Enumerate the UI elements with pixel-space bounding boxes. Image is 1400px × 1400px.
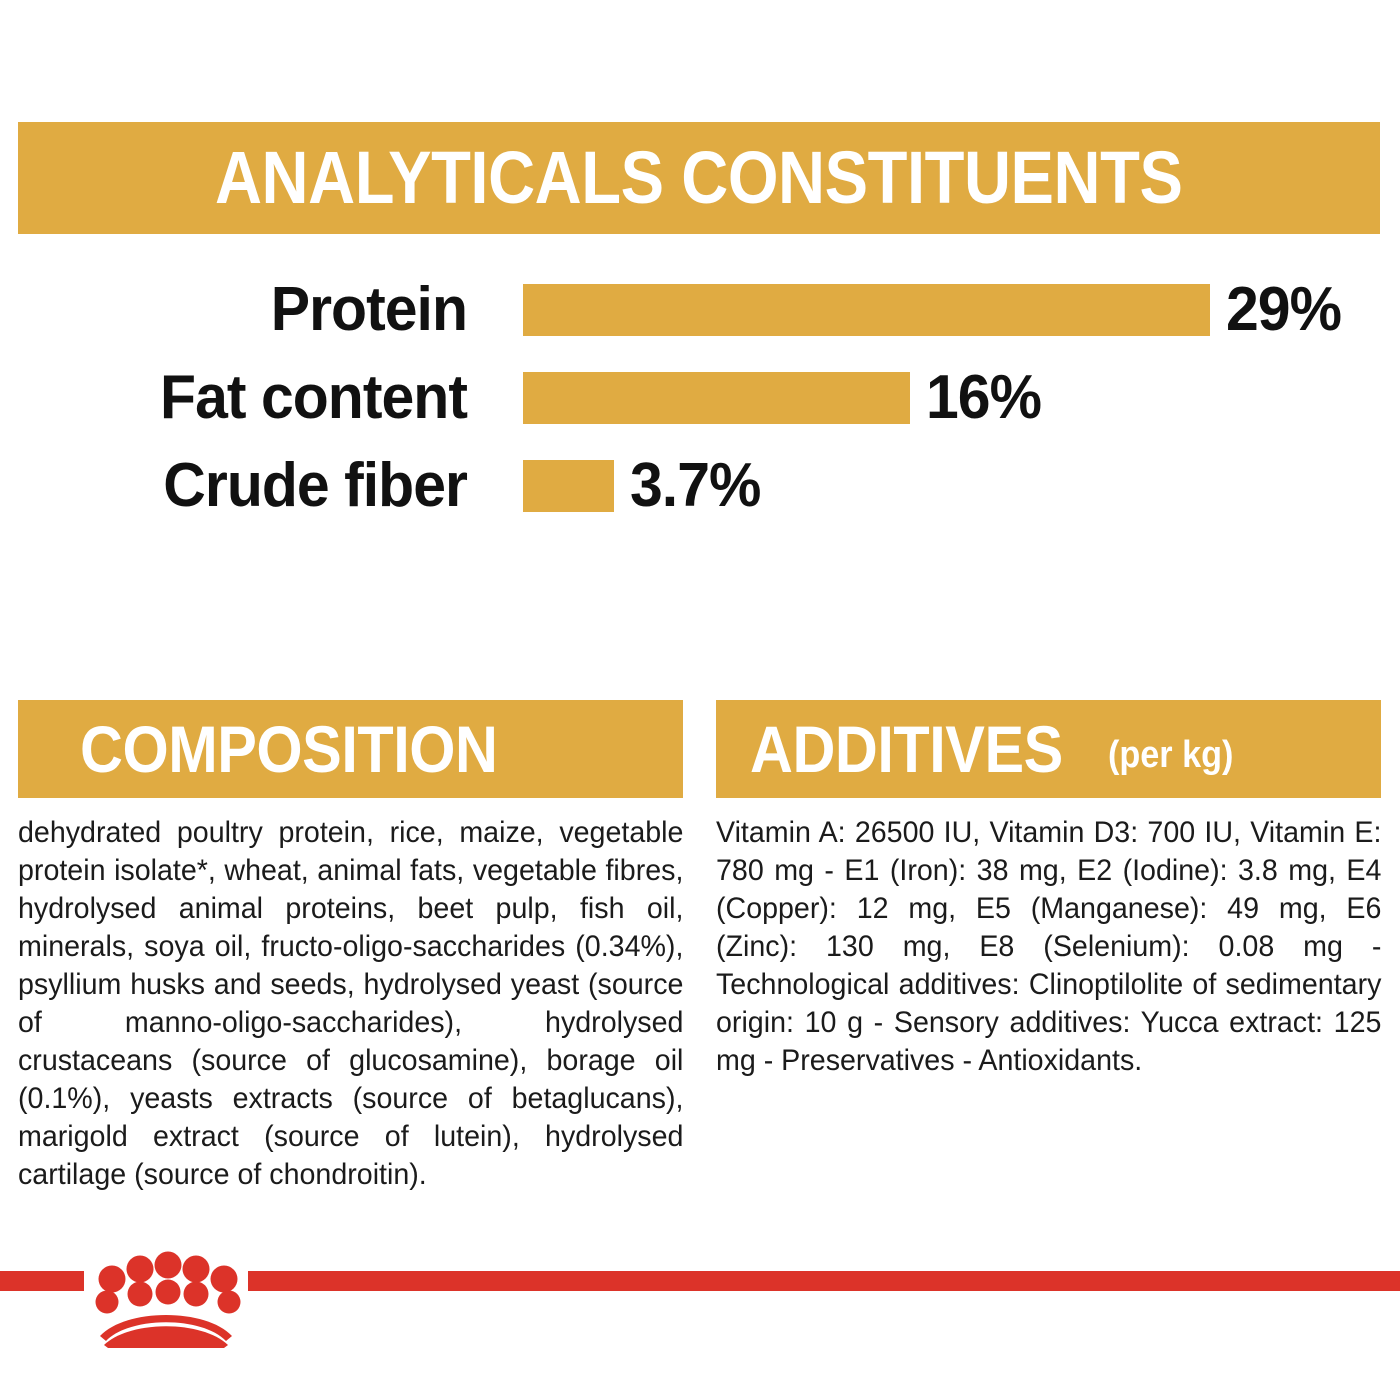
footer-rule-left: [0, 1271, 84, 1291]
bar-group-crude-fiber: 3.7%: [523, 455, 767, 517]
page-title: ANALYTICALS CONSTITUENTS: [215, 141, 1182, 215]
bar-crude-fiber: [523, 460, 614, 512]
bar-group-protein: 29%: [523, 279, 1347, 341]
additives-unit-label: (per kg): [1108, 736, 1233, 774]
chart-row: Fat content 16%: [0, 360, 1400, 436]
analytical-constituents-banner: ANALYTICALS CONSTITUENTS: [18, 122, 1380, 234]
additives-banner: ADDITIVES (per kg): [716, 700, 1381, 798]
additives-column: ADDITIVES (per kg) Vitamin A: 26500 IU, …: [716, 700, 1381, 1194]
bar-label-fat-content: Fat content: [23, 367, 467, 429]
bar-label-crude-fiber: Crude fiber: [23, 455, 467, 517]
footer-rule-right: [248, 1271, 1400, 1291]
bar-value-protein: 29%: [1226, 279, 1341, 341]
bar-value-crude-fiber: 3.7%: [630, 455, 760, 517]
bar-protein: [523, 284, 1210, 336]
bar-fat-content: [523, 372, 910, 424]
bar-value-fat-content: 16%: [926, 367, 1041, 429]
composition-banner: COMPOSITION: [18, 700, 683, 798]
composition-body: dehydrated poultry protein, rice, maize,…: [18, 814, 683, 1194]
nutrition-info-page: ANALYTICALS CONSTITUENTS Protein 29% Fat…: [0, 0, 1400, 1400]
additives-title: ADDITIVES: [750, 716, 1063, 782]
royal-canin-crown-logo: [84, 1248, 248, 1348]
bar-label-protein: Protein: [23, 279, 467, 341]
chart-row: Protein 29%: [0, 272, 1400, 348]
footer: [0, 1270, 1400, 1400]
additives-body: Vitamin A: 26500 IU, Vitamin D3: 700 IU,…: [716, 814, 1381, 1080]
analytical-constituents-chart: Protein 29% Fat content 16% Crude fiber …: [0, 272, 1400, 524]
composition-column: COMPOSITION dehydrated poultry protein, …: [18, 700, 683, 1194]
bar-group-fat-content: 16%: [523, 367, 1047, 429]
detail-columns: COMPOSITION dehydrated poultry protein, …: [18, 700, 1380, 1194]
chart-row: Crude fiber 3.7%: [0, 448, 1400, 524]
composition-title: COMPOSITION: [80, 716, 497, 782]
